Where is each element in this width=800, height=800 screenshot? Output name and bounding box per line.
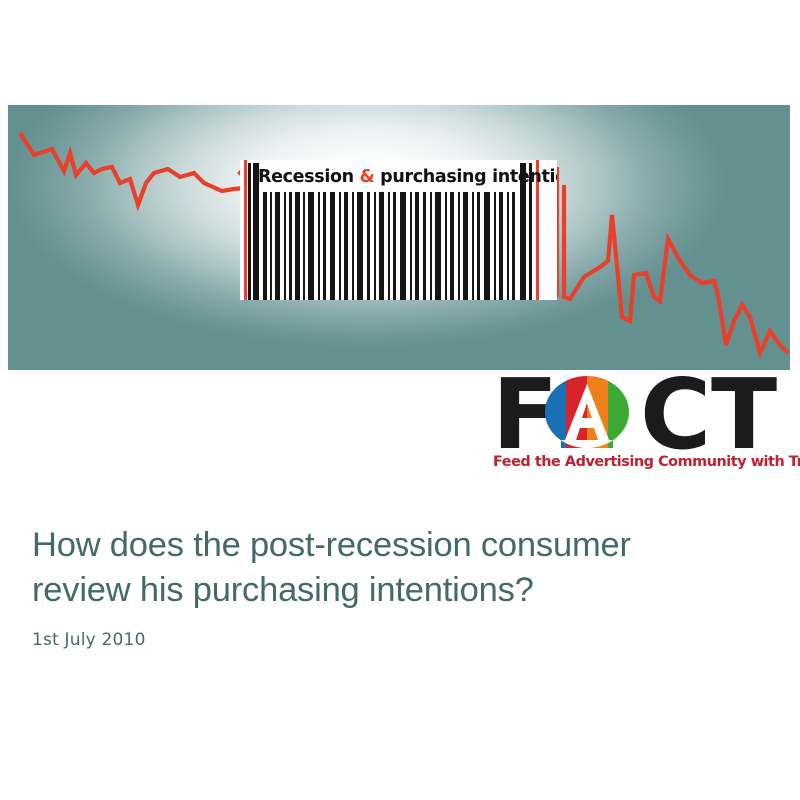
fact-logo-wordmark: F C T [492, 372, 792, 454]
barcode-bar [463, 192, 468, 300]
slide-canvas: Recession & purchasing intention F C T [0, 0, 800, 800]
page-title: How does the post-recession consumer rev… [32, 523, 762, 613]
barcode-bar [388, 192, 390, 300]
barcode-bar [289, 192, 292, 300]
page-title-line-1: How does the post-recession consumer [32, 523, 762, 568]
barcode-bar [318, 192, 320, 300]
barcode-bar [393, 192, 396, 300]
barcode-bar [400, 192, 406, 300]
fact-logo: F C T [492, 372, 792, 476]
barcode-bar [512, 192, 515, 300]
barcode-title-text: Recession & purchasing intention [258, 164, 540, 190]
barcode-bar [303, 192, 305, 300]
trend-line-left [20, 133, 260, 209]
barcode-bar [339, 192, 341, 300]
barcode-title-suffix: purchasing intention [374, 167, 557, 187]
barcode-bar [379, 192, 384, 300]
barcode-bar [445, 192, 447, 300]
barcode-bar [352, 192, 354, 300]
barcode-bar [275, 192, 280, 300]
page-date: 1st July 2010 [32, 630, 146, 650]
barcode-bar [507, 192, 509, 300]
barcode-bar [263, 192, 267, 300]
fact-logo-letter-a-icon [545, 376, 629, 448]
barcode-title-prefix: Recession [258, 167, 360, 187]
barcode-bar [430, 192, 432, 300]
barcode-bar [308, 192, 314, 300]
barcode-bar [450, 192, 454, 300]
barcode-graphic: Recession & purchasing intention [240, 160, 557, 300]
fact-logo-a-segment-blue [545, 376, 566, 448]
fact-logo-letter-t: T [711, 366, 777, 463]
barcode-title-ampersand: & [360, 167, 375, 187]
barcode-bar [330, 192, 335, 300]
fact-logo-tagline: Feed the Advertising Community with Tren… [493, 454, 800, 470]
page-title-line-2: review his purchasing intentions? [32, 568, 762, 613]
fact-logo-a-segment-green [608, 376, 629, 448]
trend-line-right [564, 185, 788, 353]
barcode-bar [323, 192, 326, 300]
barcode-bar [477, 192, 480, 300]
barcode-bar [374, 192, 376, 300]
barcode-bar [270, 192, 272, 300]
fact-logo-letter-c: C [640, 366, 711, 463]
barcode-red-guard-left [244, 160, 247, 300]
barcode-bar [344, 192, 348, 300]
barcode-bar [472, 192, 474, 300]
barcode-bar [415, 192, 419, 300]
barcode-bar [435, 192, 441, 300]
barcode-bar [494, 192, 496, 300]
barcode-bar [248, 163, 251, 300]
barcode-bar [295, 192, 300, 300]
barcode-bar [284, 192, 286, 300]
barcode-bar [499, 192, 503, 300]
barcode-bar [423, 192, 426, 300]
barcode-bar [484, 192, 490, 300]
barcode-bar [367, 192, 370, 300]
barcode-bar [410, 192, 412, 300]
barcode-bar [357, 192, 363, 300]
barcode-bar [458, 192, 460, 300]
